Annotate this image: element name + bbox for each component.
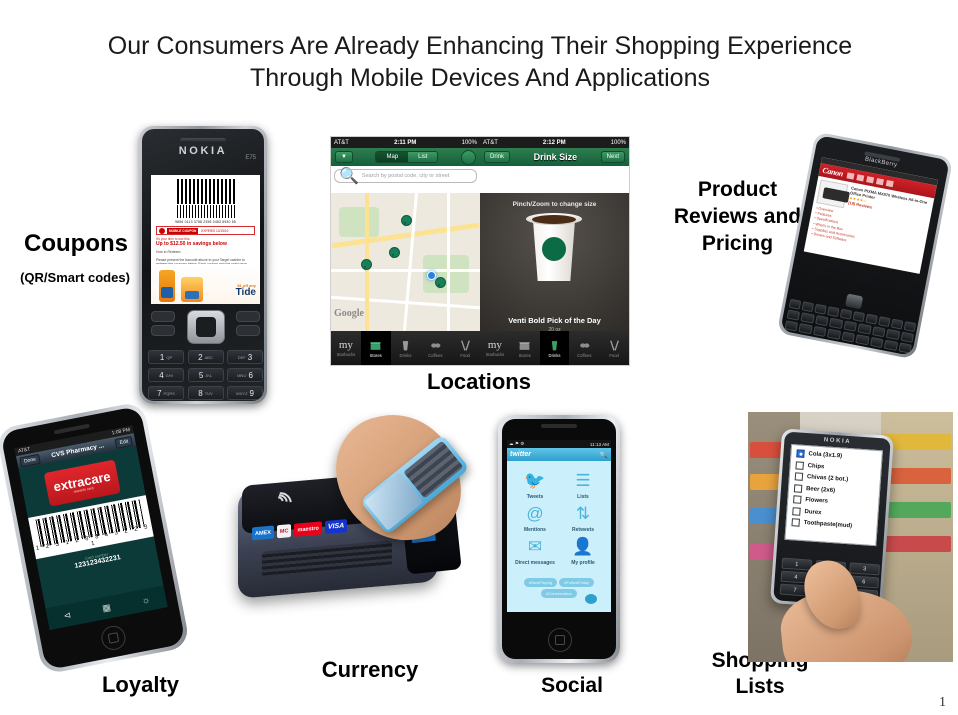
back-button[interactable]: Drink — [484, 151, 510, 163]
trackpad-icon — [845, 294, 863, 310]
battery-label: 100% — [462, 140, 477, 146]
key-letters: GHI — [166, 373, 173, 378]
key-digit: 4 — [159, 371, 163, 380]
shelf-products — [883, 434, 951, 450]
map-toolbar: ▼ Map List — [331, 148, 480, 166]
home-button[interactable] — [548, 628, 572, 652]
menu-item-retweets[interactable]: ⇅ Retweets — [561, 504, 605, 533]
coupon-redeem-title: How to Redeem: — [156, 250, 255, 255]
tab-bar: my Starbucks Stores Drinks Coffees — [480, 331, 629, 365]
key-digit: 3 — [248, 353, 252, 362]
tab-my-prefix: my — [339, 340, 353, 351]
locations-screenshots-image: AT&T 2:11 PM 100% ▼ Map List 🔍 Search by… — [330, 136, 630, 366]
checkbox-icon[interactable] — [794, 484, 803, 493]
checkbox-icon[interactable] — [795, 461, 804, 470]
twitter-app-screen: ☁ ⚑ ⚙ 11:13 AM twitter 🔍 🐦 Tweets ☰ List… — [507, 440, 611, 612]
list-item-label: Toothpaste(mud) — [803, 520, 852, 529]
bottom-toolbar: ⊲ ▦ ☼ — [46, 585, 168, 629]
search-input[interactable]: 🔍 Search by postal code, city or street — [334, 169, 477, 183]
tab-food[interactable]: Food — [599, 331, 629, 365]
coupon-number: 9856 0113 3788 2355 0483 5930 55 — [151, 220, 260, 224]
done-button[interactable]: Done — [19, 453, 40, 467]
battery-label: 100% — [611, 140, 626, 146]
map-canvas[interactable]: Google — [331, 193, 480, 331]
tide-bottle-large-icon — [159, 270, 175, 302]
target-bullseye-icon — [159, 228, 165, 234]
menu-item-tweets[interactable]: 🐦 Tweets — [513, 471, 557, 500]
menu-item-direct-messages[interactable]: ✉ Direct messages — [513, 537, 557, 566]
coupon-phone-image: NOKIA E75 9856 0113 3788 2355 0483 5930 … — [139, 126, 267, 404]
earpiece-speaker — [541, 424, 577, 428]
clock-label: 2:11 PM — [394, 140, 416, 146]
tab-label: Coffees — [577, 353, 591, 358]
call-key — [151, 325, 175, 336]
home-button[interactable] — [99, 624, 127, 652]
map-park-area — [339, 207, 379, 237]
drink-navbar: Drink Drink Size Next — [480, 148, 629, 166]
tab-food[interactable]: Food — [450, 331, 480, 365]
status-bar: AT&T 2:11 PM 100% — [331, 137, 480, 148]
search-icon[interactable]: 🔍 — [599, 451, 608, 459]
browser-screen: Canon Canon PIXMA MX870 Wireless All-in-… — [804, 157, 938, 274]
cvs-app-screen: AT&T 1:08 PM Done CVS Pharmacy ... Edit … — [14, 425, 167, 629]
phone-model-label: E75 — [245, 155, 256, 161]
search-placeholder: Search by postal code, city or street — [362, 173, 449, 179]
coupon-tag-row: MOBILE COUPON EXPIRES 12/15/10 — [156, 226, 255, 235]
key-digit: 9 — [250, 389, 254, 398]
earpiece-speaker — [54, 424, 90, 435]
status-bar: AT&T 2:12 PM 100% — [480, 137, 629, 148]
mastercard-logo: MC — [277, 524, 292, 538]
status-bar: ☁ ⚑ ⚙ 11:13 AM — [507, 440, 611, 448]
key-1: 1 — [781, 558, 812, 571]
list-item[interactable]: Toothpaste(mud) — [791, 518, 871, 532]
at-icon: @ — [523, 504, 547, 524]
status-icons: ☁ ⚑ ⚙ — [509, 441, 524, 447]
tab-coffees[interactable]: Coffees — [569, 331, 599, 365]
tab-label: Stores — [370, 353, 382, 358]
social-phone-image: ☁ ⚑ ⚙ 11:13 AM twitter 🔍 🐦 Tweets ☰ List… — [498, 415, 620, 663]
cup-icon — [548, 339, 561, 352]
shelf-products — [883, 536, 951, 552]
list-item-label: Beer (2x6) — [806, 486, 835, 494]
pinch-zoom-instruction: Pinch/Zoom to change size — [480, 201, 629, 208]
map-pin-store[interactable] — [435, 277, 444, 289]
nokia-logo: NOKIA — [148, 145, 258, 157]
barcode-icon — [177, 205, 235, 218]
clock-label: 2:12 PM — [543, 140, 566, 146]
map-road — [447, 193, 450, 331]
visa-logo: VISA — [325, 519, 347, 534]
tab-label: Starbucks — [486, 352, 505, 357]
list-item-label: Durex — [804, 509, 821, 516]
coffee-surface — [532, 215, 576, 224]
title-line-1: Our Consumers Are Already Enhancing Thei… — [108, 32, 852, 60]
shopping-list-screen: Cola (3x1.9) Chips Chivas (2 bot.) Beer … — [784, 444, 882, 546]
tab-label: Starbucks — [337, 352, 356, 357]
contactless-icon — [271, 493, 295, 517]
coupon-product-image: $1 off any Tide — [151, 264, 260, 304]
key-letters: TUV — [205, 391, 213, 396]
trend-chip[interactable]: #FollowFriday — [559, 578, 594, 587]
starbucks-drink-screen: AT&T 2:12 PM 100% Drink Drink Size Next … — [480, 137, 629, 365]
drink-name: Venti Bold Pick of the Day — [480, 316, 629, 325]
caption-loyalty: Loyalty — [78, 672, 203, 698]
map-pin-store[interactable] — [401, 215, 410, 227]
product-thumbnail — [816, 179, 848, 208]
key-9: WXYZ9 — [227, 386, 263, 400]
key-6: MNO6 — [227, 368, 263, 382]
map-pin-store[interactable] — [361, 259, 370, 271]
menu-label: Tweets — [527, 494, 544, 500]
key-digit: 5 — [199, 371, 203, 380]
twitter-menu-grid: 🐦 Tweets ☰ Lists @ Mentions ⇅ Retweets ✉ — [507, 461, 611, 566]
clock-label: 11:13 AM — [590, 442, 609, 447]
earpiece-speaker — [180, 138, 226, 143]
page-title: Our Consumers Are Already Enhancing Thei… — [60, 30, 900, 94]
numeric-keypad: 1QP 2ABC DEF3 4GHI 5JKL MNO6 7PQRS 8TUV … — [148, 350, 263, 401]
key-4: 4GHI — [148, 368, 184, 382]
app-header: twitter 🔍 — [507, 448, 611, 461]
menu-item-my-profile[interactable]: 👤 My profile — [561, 537, 605, 566]
tab-map[interactable]: Map — [376, 152, 408, 162]
key-5: 5JKL — [188, 368, 224, 382]
store-icon — [369, 339, 382, 352]
envelope-icon: ✉ — [523, 537, 547, 557]
list-item-label: Cola (3x1.9) — [808, 451, 842, 459]
tab-my-prefix: my — [488, 340, 502, 351]
filter-icon[interactable]: ▼ — [335, 151, 353, 163]
tab-label: Food — [460, 353, 470, 358]
maestro-logo: maestro — [294, 521, 321, 536]
starbucks-siren-logo — [542, 237, 566, 261]
key-digit: 7 — [157, 389, 161, 398]
google-attribution: Google — [334, 308, 364, 319]
trend-chip[interactable]: #Conversation — [541, 589, 577, 598]
checkbox-icon[interactable] — [792, 507, 801, 516]
drink-preview[interactable]: Pinch/Zoom to change size — [480, 193, 629, 331]
starbucks-map-screen: AT&T 2:11 PM 100% ▼ Map List 🔍 Search by… — [331, 137, 480, 365]
tab-label: Stores — [519, 353, 531, 358]
left-softkey — [151, 311, 175, 322]
key-letters: ABC — [205, 355, 213, 360]
tab-coffees[interactable]: Coffees — [420, 331, 450, 365]
twitter-logo: twitter — [510, 451, 531, 458]
key-1: 1QP — [148, 350, 184, 364]
key-letters: WXYZ — [236, 391, 248, 396]
screen-title: Drink Size — [534, 152, 578, 162]
coupon-screen: 9856 0113 3788 2355 0483 5930 55 MOBILE … — [151, 175, 260, 304]
checkbox-icon[interactable] — [791, 518, 800, 527]
fork-knife-icon — [459, 339, 472, 352]
trend-chip[interactable]: #NowPlaying — [524, 578, 557, 587]
menu-label: My profile — [571, 560, 595, 566]
key-digit: 2 — [198, 353, 202, 362]
search-icon: 🔍 — [339, 166, 359, 186]
tab-label: Coffees — [428, 353, 442, 358]
menu-item-lists[interactable]: ☰ Lists — [561, 471, 605, 500]
coupon-headline: Up to $12.50 in savings below — [156, 241, 255, 247]
menu-label: Direct messages — [515, 560, 555, 566]
tab-bar: my Starbucks Stores Drinks Coffees — [331, 331, 480, 365]
right-softkey — [236, 311, 260, 322]
mobile-coupon-tag: MOBILE COUPON — [167, 228, 198, 234]
list-item-label: Chivas (2 bot.) — [807, 474, 849, 483]
navigation-cluster — [149, 310, 262, 348]
share-icon[interactable]: ⊲ — [46, 601, 89, 630]
coupon-expiry: EXPIRES 12/15/10 — [198, 229, 228, 233]
checkbox-icon[interactable] — [793, 495, 802, 504]
caption-social: Social — [517, 674, 627, 698]
caption-coupons-subtitle: (QR/Smart codes) — [4, 270, 146, 285]
key-digit: 6 — [248, 371, 252, 380]
shelf-products — [883, 468, 951, 484]
amex-logo: AMEX — [252, 526, 274, 541]
locate-me-icon[interactable] — [461, 150, 476, 165]
list-item-label: Flowers — [805, 497, 828, 505]
map-road — [403, 193, 418, 331]
key-letters: JKL — [205, 373, 212, 378]
tab-stores[interactable]: Stores — [510, 331, 540, 365]
currency-nfc-payment-image: AMEX MC maestro VISA — [228, 420, 460, 605]
extracare-card-logo: extracare rewards card — [44, 459, 121, 506]
bird-icon: 🐦 — [523, 471, 547, 491]
caption-locations: Locations — [404, 369, 554, 395]
menu-label: Retweets — [572, 527, 594, 533]
tab-label: Drinks — [400, 353, 412, 358]
end-key — [236, 325, 260, 336]
tab-label: Food — [609, 353, 619, 358]
caption-coupons: Coupons — [6, 230, 146, 258]
menu-label: Lists — [577, 494, 589, 500]
store-icon[interactable]: ▦ — [85, 593, 128, 622]
retweet-icon: ⇅ — [571, 504, 595, 524]
tide-bottle-small-icon — [181, 277, 203, 302]
map-list-segmented-control[interactable]: Map List — [375, 151, 438, 163]
tab-my-starbucks[interactable]: my Starbucks — [480, 331, 510, 365]
coupon-offer-brand: Tide — [236, 288, 256, 298]
current-location-dot — [427, 271, 436, 280]
fork-knife-icon — [608, 339, 621, 352]
tab-label: Drinks — [549, 353, 561, 358]
list-item-label: Chips — [807, 463, 824, 470]
key-letters: QP — [166, 355, 172, 360]
store-icon — [518, 339, 531, 352]
key-letters: MNO — [237, 373, 246, 378]
next-button[interactable]: Next — [601, 151, 625, 163]
loyalty-phone-image: AT&T 1:08 PM Done CVS Pharmacy ... Edit … — [0, 401, 190, 675]
coffee-bean-icon — [578, 339, 591, 352]
title-line-2: Through Mobile Devices And Applications — [60, 62, 900, 94]
key-8: 8TUV — [188, 386, 224, 400]
key-digit: 8 — [198, 389, 202, 398]
coffee-bean-icon — [429, 339, 442, 352]
dpad-icon — [187, 310, 225, 344]
edit-button[interactable]: Edit — [115, 435, 133, 448]
product-reviews-phone-image: BlackBerry Canon Canon PIXMA MX870 Wirel… — [777, 132, 954, 360]
shelf-products — [883, 502, 951, 518]
tab-drinks[interactable]: Drinks — [540, 331, 570, 365]
menu-label: Mentions — [524, 527, 546, 533]
tab-stores[interactable]: Stores — [361, 331, 391, 365]
key-2: 2ABC — [188, 350, 224, 364]
tab-drinks[interactable]: Drinks — [391, 331, 421, 365]
key-3: DEF3 — [227, 350, 263, 364]
tab-list[interactable]: List — [408, 152, 437, 162]
shopping-list-image: NOKIA Cola (3x1.9) Chips Chivas (2 bot.)… — [748, 412, 953, 662]
lists-icon: ☰ — [571, 471, 595, 491]
key-letters: DEF — [238, 355, 246, 360]
cup-icon — [399, 339, 412, 352]
key-letters: PQRS — [164, 391, 175, 396]
map-pin-store[interactable] — [389, 247, 398, 259]
key-digit: 1 — [160, 353, 164, 362]
qr-code-icon — [177, 179, 235, 204]
carrier-label: AT&T — [334, 140, 349, 146]
person-icon: 👤 — [571, 537, 595, 557]
key-7: 7PQRS — [148, 386, 184, 400]
checkbox-icon[interactable] — [795, 472, 804, 481]
caption-currency: Currency — [300, 657, 440, 683]
carrier-label: AT&T — [483, 140, 498, 146]
map-road — [331, 269, 480, 272]
menu-item-mentions[interactable]: @ Mentions — [513, 504, 557, 533]
qwerty-keyboard — [782, 299, 916, 356]
bird-mascot-icon — [585, 594, 597, 604]
key-3: 3 — [849, 562, 880, 575]
slide-page-number: 1 — [939, 695, 946, 711]
tab-my-starbucks[interactable]: my Starbucks — [331, 331, 361, 365]
checkbox-icon[interactable] — [796, 449, 805, 458]
lightbulb-icon[interactable]: ☼ — [124, 585, 167, 614]
